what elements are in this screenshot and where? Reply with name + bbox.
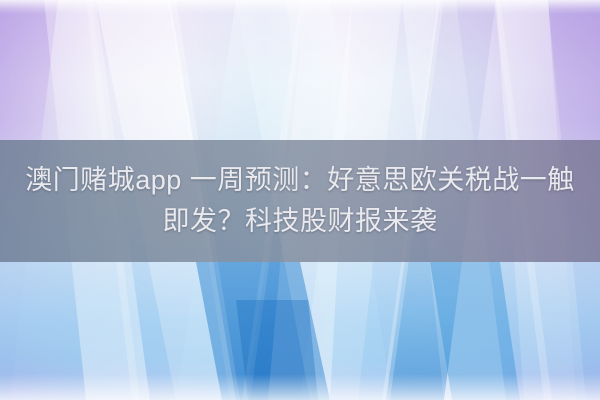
banner-image: 澳门赌城app 一周预测：好意思欧关税战一触即发？科技股财报来袭: [0, 0, 600, 400]
headline-overlay-bar: 澳门赌城app 一周预测：好意思欧关税战一触即发？科技股财报来袭: [0, 140, 600, 262]
top-haze: [0, 0, 600, 14]
bottom-haze: [0, 374, 600, 400]
page-title: 澳门赌城app 一周预测：好意思欧关税战一触即发？科技股财报来袭: [24, 160, 576, 242]
